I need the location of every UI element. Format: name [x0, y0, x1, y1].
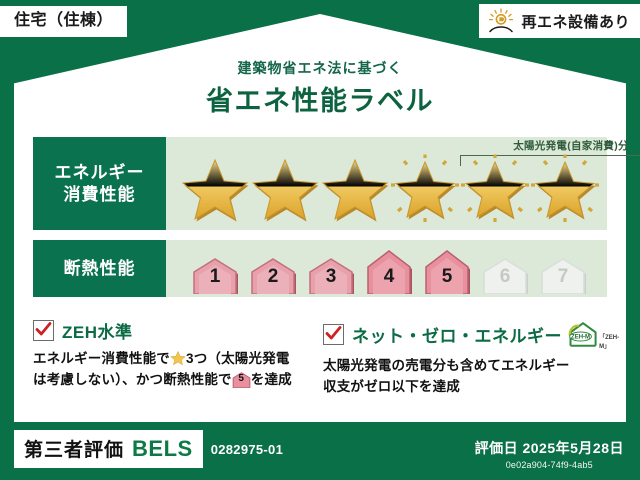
solar-sun-icon — [487, 8, 515, 34]
criteria-section: ZEH水準 エネルギー消費性能で3つ（太陽光発電は考慮しない）、かつ断熱性能で5… — [33, 318, 613, 398]
evaluation-date-label: 評価日 — [475, 440, 519, 456]
insulation-grade-area: 1 2 3 — [166, 240, 607, 297]
bels-logo-text: BELS — [132, 436, 193, 462]
insulation-label: 断熱性能 — [64, 258, 136, 279]
criterion-zeh-text: エネルギー消費性能で3つ（太陽光発電は考慮しない）、かつ断熱性能で5を達成 — [33, 349, 313, 391]
label-subtitle: 建築物省エネ法に基づく — [0, 58, 640, 78]
grade-house-3: 3 — [304, 254, 358, 294]
criterion-zeh-text-1: エネルギー消費性能で — [33, 351, 170, 366]
zeh-m-logo-icon: ZEH-M 「ZEH-M」 — [568, 318, 625, 350]
insulation-performance-header: 断熱性能 — [33, 240, 166, 297]
checkbox-checked-icon — [33, 320, 54, 341]
grade-value: 1 — [188, 266, 242, 288]
footer-evaluation: 評価日 2025年5月28日 0e02a904-74f9-4ab5 — [475, 438, 624, 470]
star-rating — [166, 137, 607, 228]
criterion-zeh-text-2: 3つ（太陽光発電 — [186, 351, 290, 366]
building-type-label: 住宅（住棟） — [14, 12, 113, 29]
criterion-net-zero-title: ネット・ゼロ・エネルギー — [352, 322, 562, 347]
criterion-net-zero-line1: 太陽光発電の売電分も含めてエネルギー — [323, 358, 570, 373]
criterion-net-zero-header: ネット・ゼロ・エネルギー ZEH-M 「ZEH-M」 — [323, 318, 603, 350]
renewable-equipment-label: 再エネ設備あり — [521, 11, 630, 32]
criterion-net-zero-text: 太陽光発電の売電分も含めてエネルギー 収支がゼロ以下を達成 — [323, 356, 603, 398]
star-filled — [180, 154, 250, 224]
grade-house-6: 6 — [478, 254, 532, 294]
energy-performance-header: エネルギー 消費性能 — [33, 137, 166, 230]
third-party-label: 第三者評価 — [24, 435, 124, 462]
star-filled — [250, 154, 320, 224]
criterion-zeh-header: ZEH水準 — [33, 318, 313, 343]
building-type-tag: 住宅（住棟） — [0, 6, 127, 37]
grade-house-2: 2 — [246, 254, 300, 294]
energy-performance-label: 住宅（住棟） 再エネ設備あり 建築物省エネ法に基づく 省エ — [0, 0, 640, 480]
star-filled — [320, 154, 390, 224]
star-solar — [390, 154, 460, 224]
certificate-number: 0282975-01 — [211, 442, 283, 457]
criterion-zeh-text-3: は考慮しない）、かつ断熱性能で — [33, 372, 232, 387]
grade-value: 7 — [536, 266, 590, 288]
energy-label-line2: 消費性能 — [64, 184, 136, 205]
evaluation-date-line: 評価日 2025年5月28日 — [475, 438, 624, 458]
criterion-zeh: ZEH水準 エネルギー消費性能で3つ（太陽光発電は考慮しない）、かつ断熱性能で5… — [33, 318, 323, 398]
insulation-grade-scale: 1 2 3 — [166, 237, 590, 297]
insulation-performance-row: 断熱性能 1 2 — [33, 240, 607, 297]
grade-house-5: 5 — [420, 247, 474, 294]
checkbox-checked-icon — [323, 324, 344, 345]
grade-value: 6 — [478, 266, 532, 288]
criterion-zeh-title: ZEH水準 — [62, 318, 133, 343]
star-solar — [460, 154, 530, 224]
grade-house-1: 1 — [188, 254, 242, 294]
inline-grade-value: 5 — [232, 371, 251, 387]
criterion-zeh-text-4: を達成 — [251, 372, 292, 387]
criterion-net-zero: ネット・ゼロ・エネルギー ZEH-M 「ZEH-M」 太陽光発電の売電分も含めて… — [323, 318, 613, 398]
grade-house-7: 7 — [536, 254, 590, 294]
evaluation-id: 0e02a904-74f9-4ab5 — [475, 460, 624, 470]
renewable-equipment-tag: 再エネ設備あり — [479, 4, 640, 38]
zeh-m-logo-caption: 「ZEH-M」 — [599, 332, 625, 350]
energy-star-area: 太陽光発電(自家消費)分 — [166, 137, 607, 230]
grade-value: 5 — [420, 266, 474, 288]
star-solar — [530, 154, 600, 224]
inline-grade-badge: 5 — [232, 371, 251, 388]
grade-house-4: 4 — [362, 247, 416, 294]
grade-value: 2 — [246, 266, 300, 288]
bels-badge: 第三者評価 BELS — [14, 430, 203, 468]
inline-star-icon — [170, 350, 186, 366]
grade-value: 3 — [304, 266, 358, 288]
footer-certification: 第三者評価 BELS 0282975-01 — [14, 430, 283, 468]
svg-text:ZEH-M: ZEH-M — [571, 335, 590, 341]
criterion-net-zero-line2: 収支がゼロ以下を達成 — [323, 379, 460, 394]
energy-label-line1: エネルギー — [55, 162, 145, 183]
grade-value: 4 — [362, 266, 416, 288]
label-title: 省エネ性能ラベル — [0, 79, 640, 118]
energy-performance-row: エネルギー 消費性能 太陽光発電(自家消費)分 — [33, 137, 607, 230]
evaluation-date-value: 2025年5月28日 — [522, 440, 624, 456]
